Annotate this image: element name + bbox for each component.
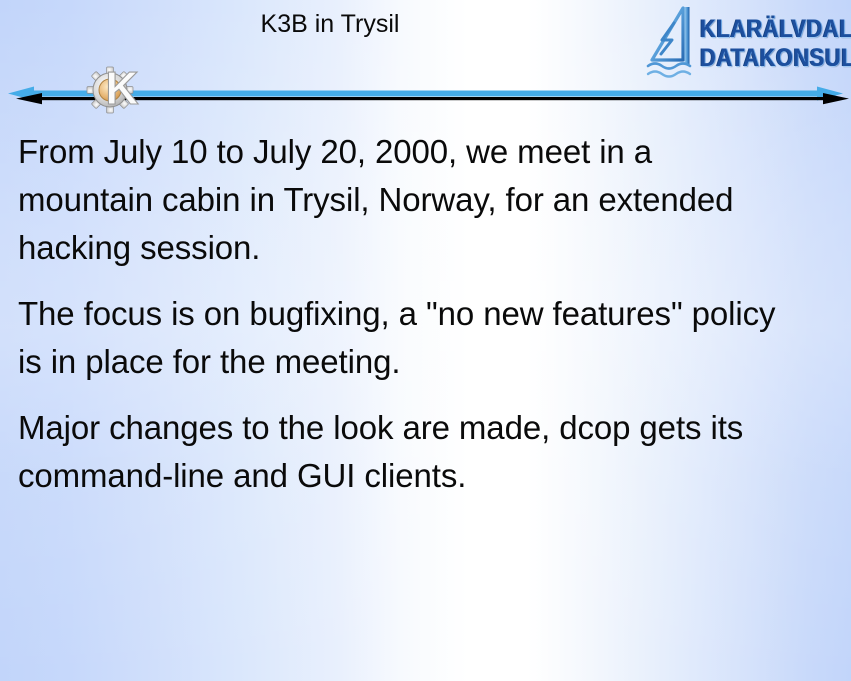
slide-body: From July 10 to July 20, 2000, we meet i…	[18, 128, 830, 500]
slide-canvas: K3B in Trysil	[0, 0, 851, 681]
svg-text:K: K	[105, 62, 138, 114]
kdab-logo-text: KLARÄLVDALENS DATAKONSULT AB	[700, 14, 851, 72]
kdab-logo-line-1: KLARÄLVDALENS	[700, 16, 851, 43]
sail-boat-icon	[643, 4, 695, 82]
slide-header: K3B in Trysil	[0, 0, 851, 108]
page-title: K3B in Trysil	[0, 10, 660, 39]
body-paragraph-2: The focus is on bugfixing, a "no new fea…	[18, 290, 808, 386]
body-paragraph-3: Major changes to the look are made, dcop…	[18, 404, 818, 500]
kdab-logo: KLARÄLVDALENS DATAKONSULT AB	[643, 2, 847, 84]
body-paragraph-1: From July 10 to July 20, 2000, we meet i…	[18, 128, 778, 272]
kde-gear-icon: K	[86, 60, 150, 120]
kdab-logo-line-2: DATAKONSULT AB	[700, 45, 851, 72]
